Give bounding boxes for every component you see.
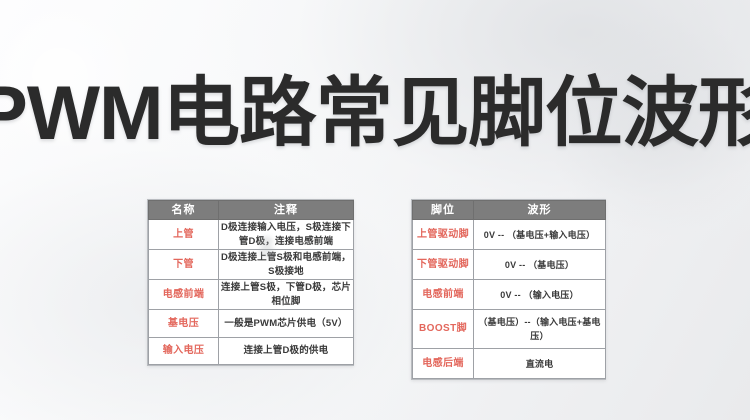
cell-pin: 电感前端 — [413, 280, 474, 310]
cell-note: D极连接输入电压，S极连接下管D极，连接电感前端 — [219, 220, 354, 250]
cell-pin: 下管驱动脚 — [413, 250, 474, 280]
table-header-row: 名称 注释 — [149, 201, 354, 220]
cell-waveform: 0V -- （基电压+输入电压） — [474, 220, 606, 250]
column-header-name: 名称 — [149, 201, 219, 220]
page-title: PWM电路常见脚位波形 — [0, 66, 750, 162]
cell-note: 一般是PWM芯片供电（5V） — [219, 310, 354, 338]
pin-description-grid: 名称 注释 上管 D极连接输入电压，S极连接下管D极，连接电感前端 下管 D极连… — [148, 200, 354, 365]
cell-name: 电感前端 — [149, 280, 219, 310]
cell-pin: BOOST脚 — [413, 310, 474, 349]
table-row: 输入电压 连接上管D极的供电 — [149, 338, 354, 365]
cell-waveform: 0V -- （输入电压） — [474, 280, 606, 310]
table-row: 基电压 一般是PWM芯片供电（5V） — [149, 310, 354, 338]
poster-canvas: PWM电路常见脚位波形 名称 注释 上管 D极连接输入电压，S极连接下管D极，连… — [0, 0, 750, 420]
table-header-row: 脚位 波形 — [413, 201, 606, 220]
cell-pin: 上管驱动脚 — [413, 220, 474, 250]
table-row: 下管 D极连接上管S极和电感前端，S极接地 — [149, 250, 354, 280]
pin-waveform-table: 脚位 波形 上管驱动脚 0V -- （基电压+输入电压） 下管驱动脚 0V --… — [411, 199, 606, 380]
cell-name: 基电压 — [149, 310, 219, 338]
cell-waveform: 0V -- （基电压） — [474, 250, 606, 280]
table-row: 电感后端 直流电 — [413, 349, 606, 379]
table-row: 电感前端 0V -- （输入电压） — [413, 280, 606, 310]
cell-name: 输入电压 — [149, 338, 219, 365]
table-row: 上管 D极连接输入电压，S极连接下管D极，连接电感前端 — [149, 220, 354, 250]
cell-note: D极连接上管S极和电感前端，S极接地 — [219, 250, 354, 280]
table-row: 电感前端 连接上管S极，下管D极，芯片相位脚 — [149, 280, 354, 310]
column-header-waveform: 波形 — [474, 201, 606, 220]
table-row: 上管驱动脚 0V -- （基电压+输入电压） — [413, 220, 606, 250]
cell-note: 连接上管D极的供电 — [219, 338, 354, 365]
page-title-text: PWM电路常见脚位波形 — [0, 70, 750, 158]
table-row: BOOST脚 （基电压）--（输入电压+基电压） — [413, 310, 606, 349]
cell-name: 下管 — [149, 250, 219, 280]
cell-pin: 电感后端 — [413, 349, 474, 379]
table-row: 下管驱动脚 0V -- （基电压） — [413, 250, 606, 280]
cell-waveform: （基电压）--（输入电压+基电压） — [474, 310, 606, 349]
column-header-pin: 脚位 — [413, 201, 474, 220]
pin-waveform-grid: 脚位 波形 上管驱动脚 0V -- （基电压+输入电压） 下管驱动脚 0V --… — [412, 200, 606, 379]
cell-name: 上管 — [149, 220, 219, 250]
cell-waveform: 直流电 — [474, 349, 606, 379]
cell-note: 连接上管S极，下管D极，芯片相位脚 — [219, 280, 354, 310]
pin-description-table: 名称 注释 上管 D极连接输入电压，S极连接下管D极，连接电感前端 下管 D极连… — [147, 199, 354, 366]
column-header-note: 注释 — [219, 201, 354, 220]
